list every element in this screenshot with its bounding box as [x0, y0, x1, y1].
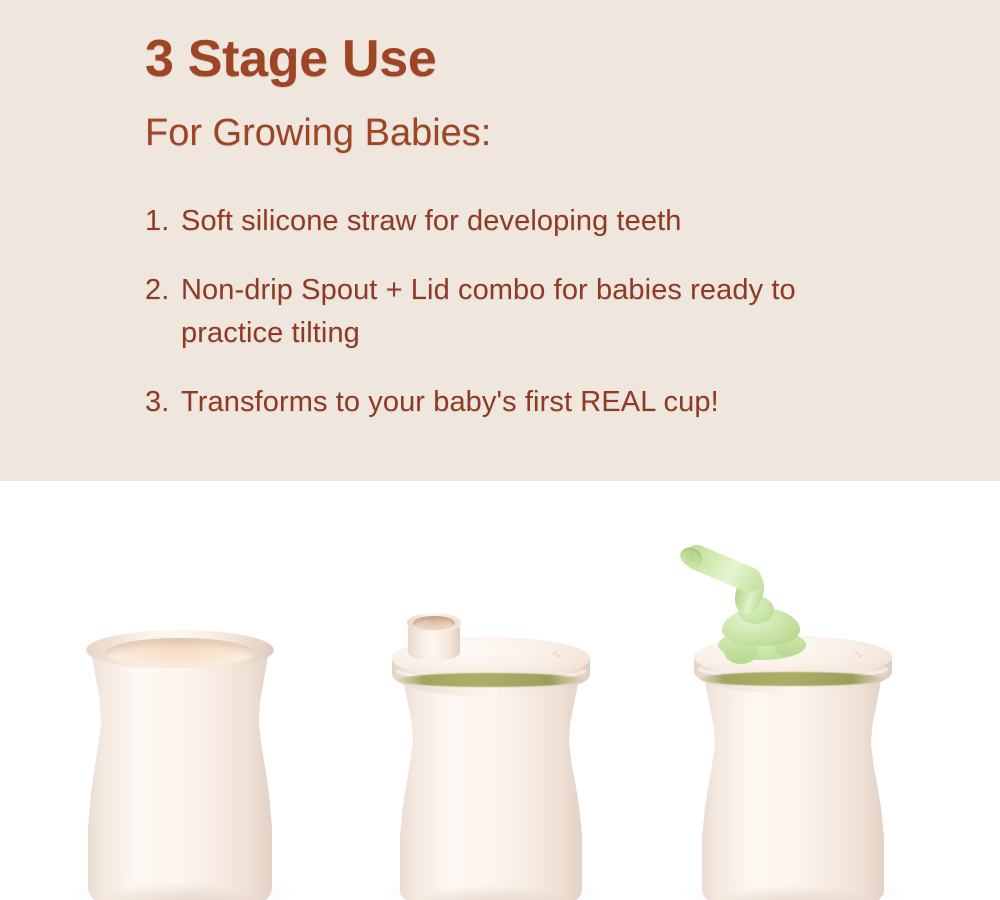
list-item-number: 3.: [145, 381, 169, 424]
page-subtitle: For Growing Babies:: [145, 113, 491, 155]
cup-interior: [105, 638, 256, 668]
list-item-label: Transforms to your baby's first REAL cup…: [181, 386, 719, 418]
olive-gasket: [396, 673, 584, 687]
list-item-number: 2.: [145, 269, 169, 312]
page-title: 3 Stage Use: [145, 33, 437, 85]
cup-body: [400, 672, 582, 900]
text-panel: 3 Stage Use For Growing Babies: 1. Soft …: [0, 0, 1000, 481]
spout-opening: [413, 616, 455, 630]
product-image-spout-cup: [400, 672, 582, 900]
olive-gasket: [698, 672, 886, 686]
list-item: 1. Soft silicone straw for developing te…: [145, 200, 905, 243]
feature-list: 1. Soft silicone straw for developing te…: [145, 200, 905, 424]
list-item-label: Non-drip Spout + Lid combo for babies re…: [181, 274, 796, 349]
list-item-number: 1.: [145, 200, 169, 243]
product-image-open-cup: [88, 644, 272, 900]
product-image-straw-cup: [702, 676, 884, 900]
list-item-label: Soft silicone straw for developing teeth: [181, 205, 682, 237]
list-item: 2. Non-drip Spout + Lid combo for babies…: [145, 269, 905, 355]
cup-body: [702, 676, 884, 900]
list-item: 3. Transforms to your baby's first REAL …: [145, 381, 905, 424]
product-infographic: 3 Stage Use For Growing Babies: 1. Soft …: [0, 0, 1000, 900]
cup-body: [88, 644, 272, 900]
